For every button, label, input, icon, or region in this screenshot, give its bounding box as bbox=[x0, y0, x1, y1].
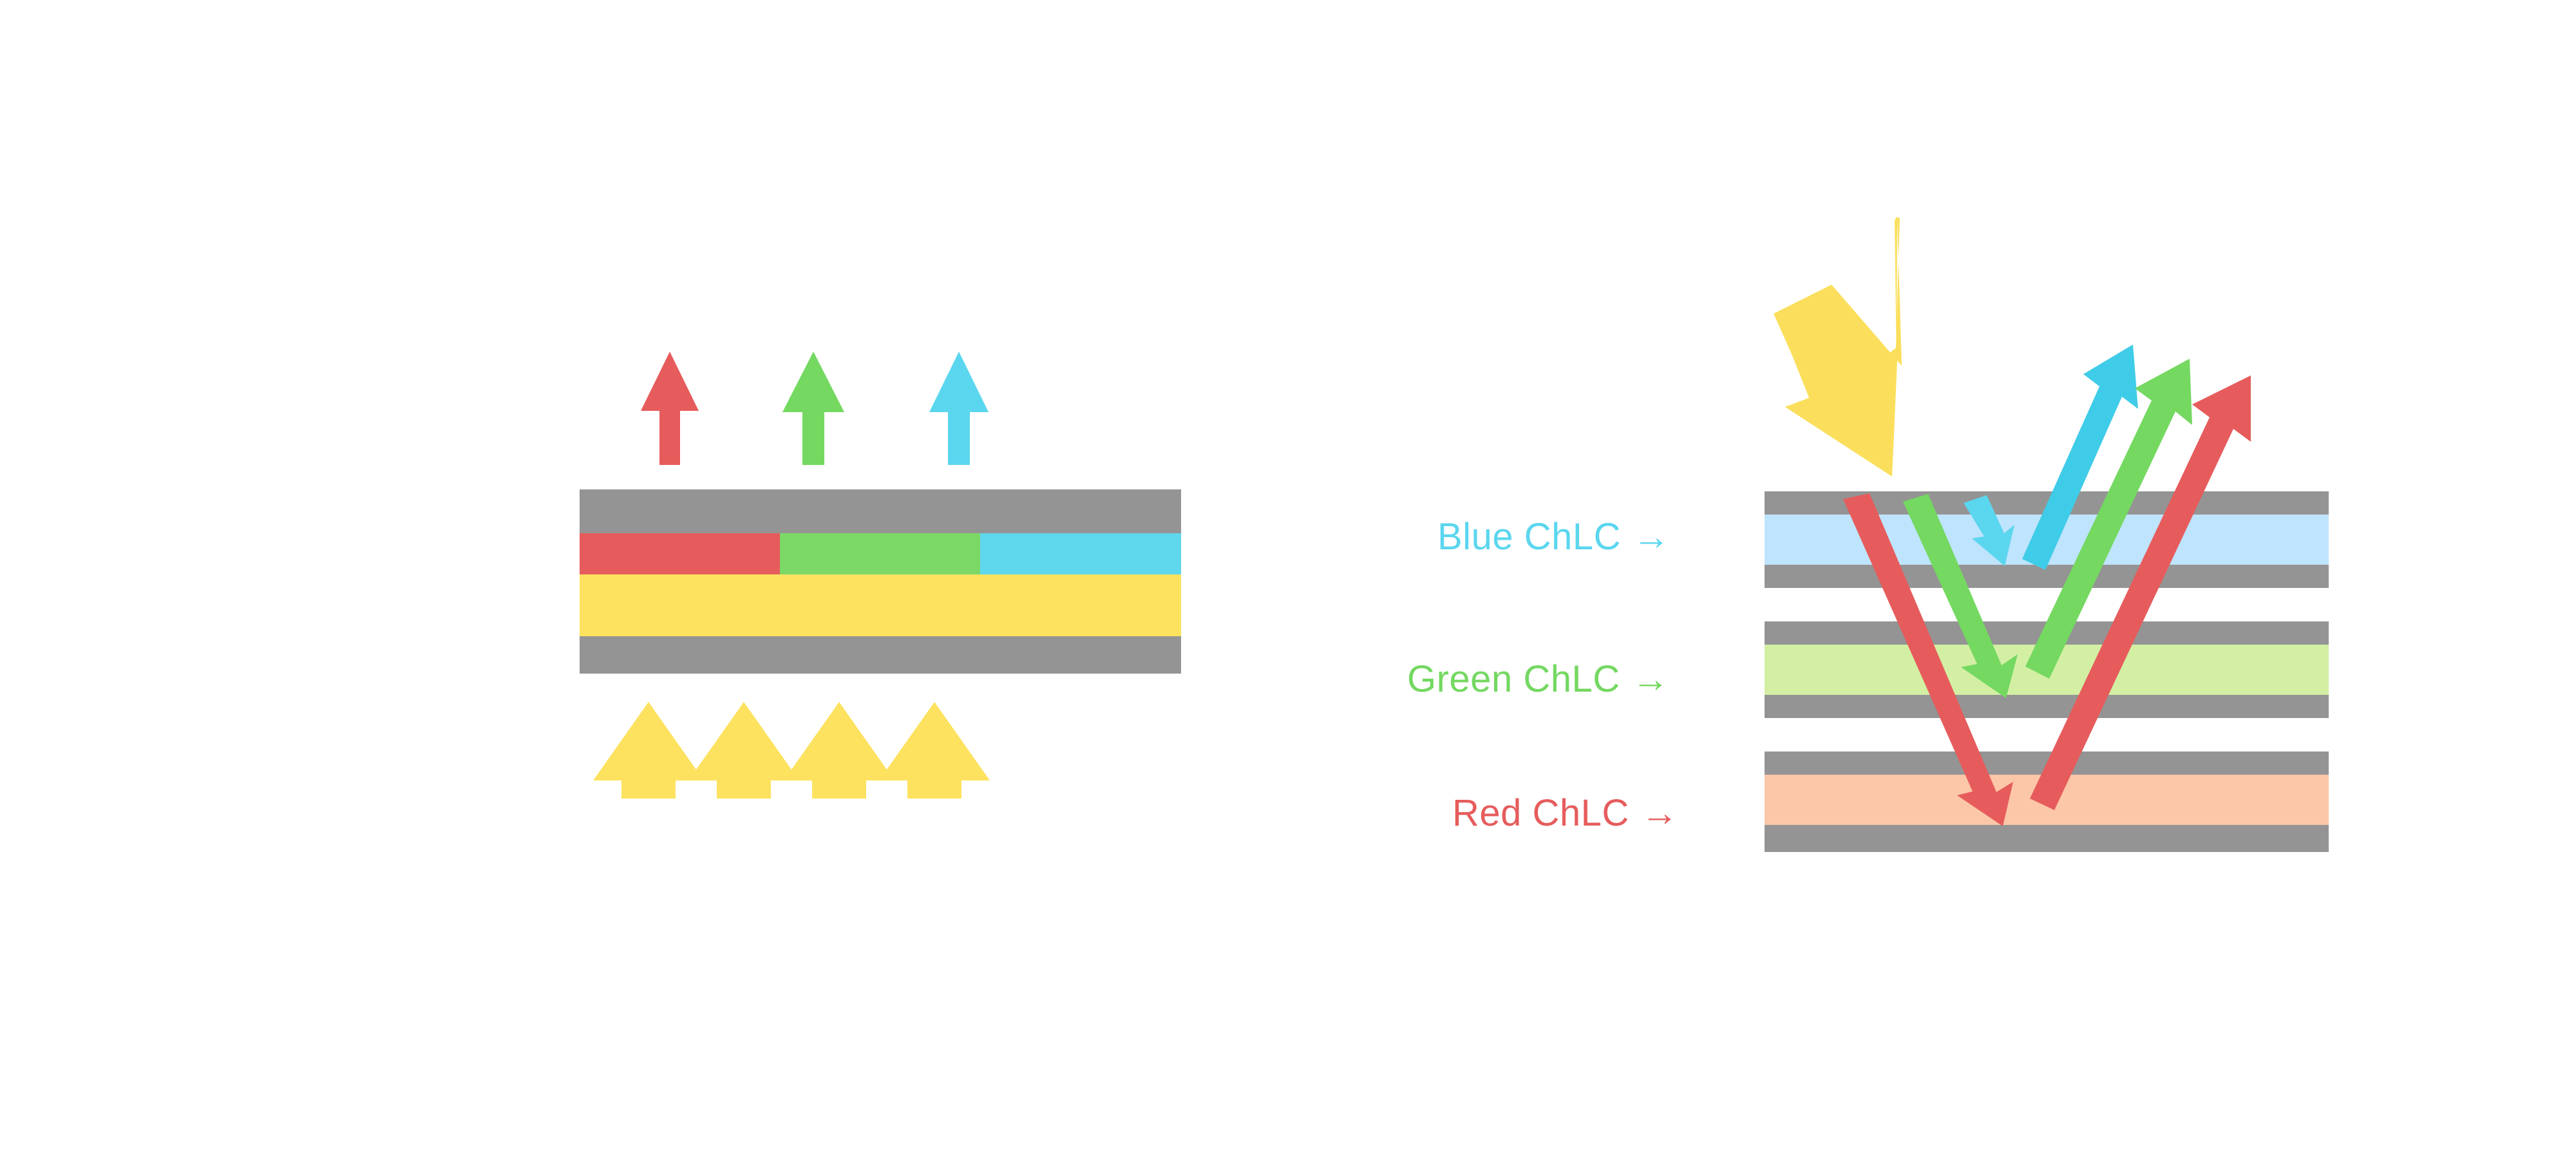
label-red-chlc-arrow-icon: → bbox=[1629, 792, 1679, 834]
incident-light-arrow bbox=[1774, 216, 1902, 477]
label-blue-chlc: Blue ChLC→ bbox=[1437, 515, 1670, 558]
blue-cell-bottom-electrode bbox=[1765, 565, 2329, 588]
red-cell-bottom-electrode bbox=[1765, 825, 2329, 852]
diagram-canvas: Blue ChLC→ Green ChLC→ Red ChLC→ bbox=[0, 0, 2576, 1154]
label-blue-chlc-text: Blue ChLC bbox=[1437, 516, 1621, 558]
green-cell-bottom-electrode bbox=[1765, 695, 2329, 718]
label-green-chlc-arrow-icon: → bbox=[1620, 658, 1670, 700]
label-green-chlc: Green ChLC→ bbox=[1407, 657, 1669, 701]
right-chlc-stack-panel bbox=[0, 0, 2576, 1154]
label-green-chlc-text: Green ChLC bbox=[1407, 658, 1620, 700]
label-red-chlc-text: Red ChLC bbox=[1452, 792, 1629, 834]
label-red-chlc: Red ChLC→ bbox=[1452, 791, 1678, 835]
label-blue-chlc-arrow-icon: → bbox=[1621, 516, 1671, 558]
